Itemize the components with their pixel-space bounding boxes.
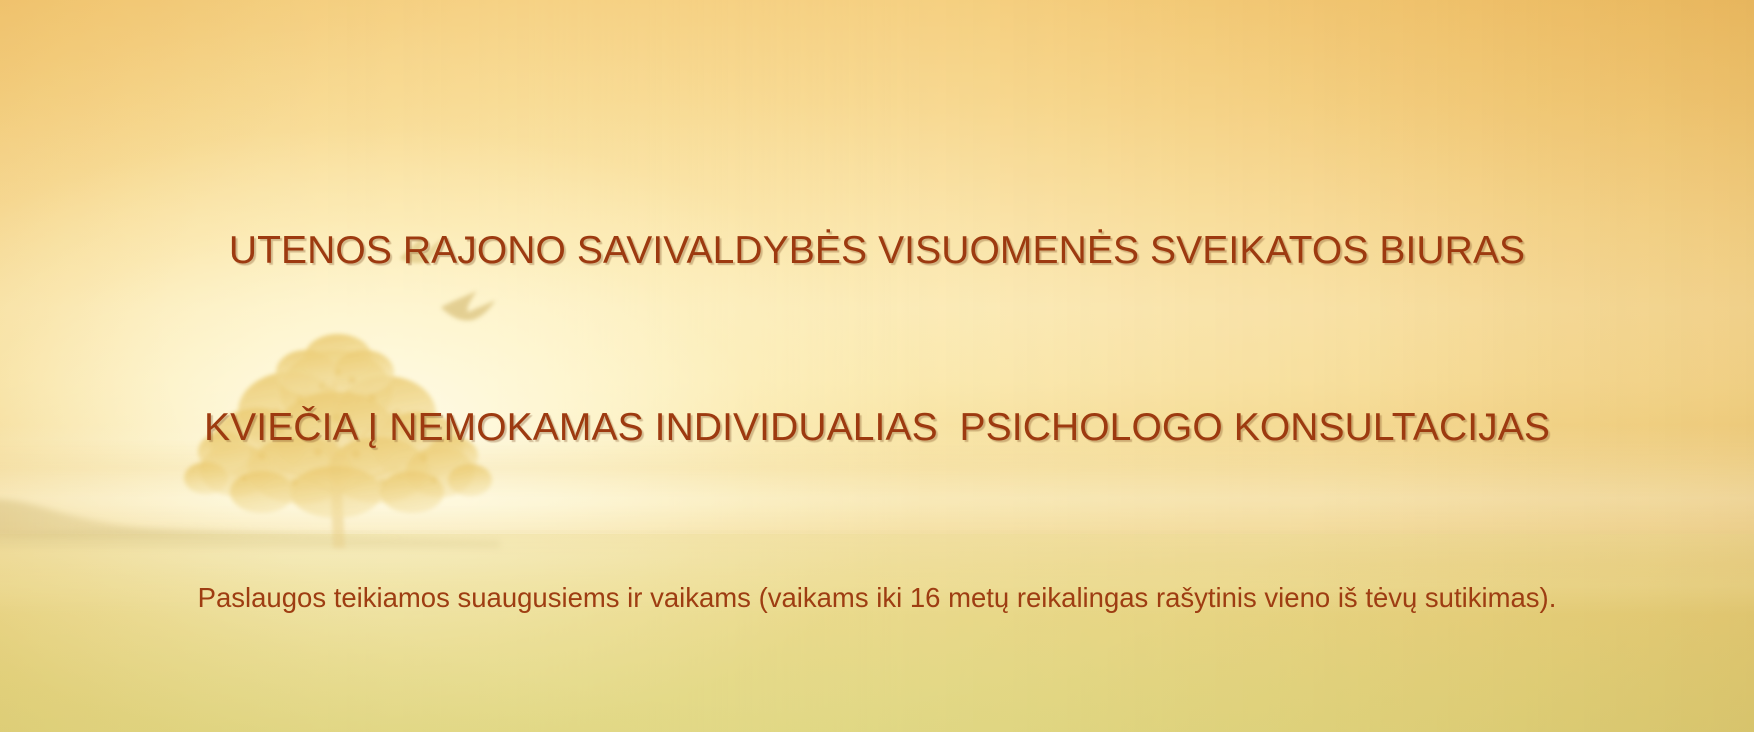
banner-caption: Paslaugos teikiamos suaugusiems ir vaika… xyxy=(0,581,1754,614)
sunset-banner: UTENOS RAJONO SAVIVALDYBĖS VISUOMENĖS SV… xyxy=(0,0,1754,732)
headline-line-2: KVIEČIA Į NEMOKAMAS INDIVIDUALIAS PSICHO… xyxy=(0,398,1754,457)
banner-headline: UTENOS RAJONO SAVIVALDYBĖS VISUOMENĖS SV… xyxy=(0,102,1754,576)
headline-line-1: UTENOS RAJONO SAVIVALDYBĖS VISUOMENĖS SV… xyxy=(0,221,1754,280)
